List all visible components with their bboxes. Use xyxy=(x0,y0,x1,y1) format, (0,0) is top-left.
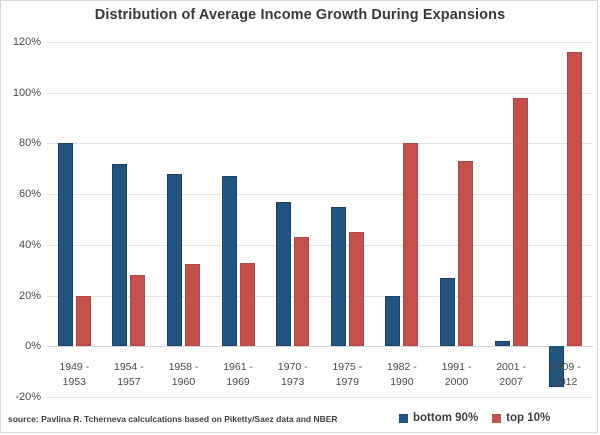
x-axis-tick-label: 1958 -1960 xyxy=(156,360,211,390)
bar-group xyxy=(47,42,102,397)
legend-swatch-icon xyxy=(399,414,408,423)
x-axis-tick-label: 2009 -2012 xyxy=(538,360,593,390)
legend-item[interactable]: top 10% xyxy=(492,412,550,424)
bar-group xyxy=(429,42,484,397)
x-axis-tick-label-line: 2012 xyxy=(538,375,593,390)
chart-container: Distribution of Average Income Growth Du… xyxy=(0,0,598,433)
y-axis-tick-label: 40% xyxy=(0,239,41,251)
x-axis-tick-label: 1961 -1969 xyxy=(211,360,266,390)
chart-title: Distribution of Average Income Growth Du… xyxy=(1,7,599,23)
legend-label: bottom 90% xyxy=(413,412,478,424)
x-axis-tick-label-line: 1970 - xyxy=(265,360,320,375)
x-axis-tick-label-line: 1961 - xyxy=(211,360,266,375)
bar-top-10 xyxy=(294,237,309,346)
bar-top-10 xyxy=(349,232,364,346)
x-axis-tick-label-line: 1990 xyxy=(375,375,430,390)
bar-bottom-90 xyxy=(112,164,127,347)
x-axis-tick-label: 1954 -1957 xyxy=(102,360,157,390)
x-axis-tick-label: 2001 -2007 xyxy=(484,360,539,390)
bar-group xyxy=(538,42,593,397)
x-axis-tick-label-line: 1991 - xyxy=(429,360,484,375)
legend-swatch-icon xyxy=(492,414,501,423)
bar-top-10 xyxy=(240,263,255,347)
x-axis-tick-label: 1982 -1990 xyxy=(375,360,430,390)
x-axis-tick-label-line: 1973 xyxy=(265,375,320,390)
x-axis-tick-label-line: 1954 - xyxy=(102,360,157,375)
x-axis-tick-label-line: 2000 xyxy=(429,375,484,390)
bar-group xyxy=(375,42,430,397)
bar-top-10 xyxy=(458,161,473,346)
bar-bottom-90 xyxy=(331,207,346,346)
x-axis-tick-label-line: 1982 - xyxy=(375,360,430,375)
y-axis-tick-label: 120% xyxy=(0,36,41,48)
bar-bottom-90 xyxy=(440,278,455,346)
bar-bottom-90 xyxy=(276,202,291,347)
x-axis-tick-label-line: 1975 - xyxy=(320,360,375,375)
x-axis-tick-label: 1949 -1953 xyxy=(47,360,102,390)
bar-bottom-90 xyxy=(222,176,237,346)
x-axis-tick-label-line: 1960 xyxy=(156,375,211,390)
bar-top-10 xyxy=(185,264,200,346)
x-axis-tick-label-line: 1969 xyxy=(211,375,266,390)
legend-item[interactable]: bottom 90% xyxy=(399,412,478,424)
bar-bottom-90 xyxy=(58,143,73,346)
bar-top-10 xyxy=(403,143,418,346)
y-axis-tick-label: -20% xyxy=(0,391,41,403)
bar-bottom-90 xyxy=(385,296,400,347)
y-axis-tick-label: 0% xyxy=(0,340,41,352)
x-axis-tick-label-line: 2009 - xyxy=(538,360,593,375)
plot-area xyxy=(47,42,593,397)
bar-group xyxy=(102,42,157,397)
bar-group xyxy=(265,42,320,397)
bar-top-10 xyxy=(567,52,582,346)
bar-top-10 xyxy=(513,98,528,347)
x-axis-tick-label-line: 1949 - xyxy=(47,360,102,375)
chart-legend: bottom 90%top 10% xyxy=(399,412,550,424)
gridline xyxy=(47,397,593,398)
x-axis-tick-label: 1975 -1979 xyxy=(320,360,375,390)
x-axis-tick-label-line: 1979 xyxy=(320,375,375,390)
x-axis-tick-label-line: 2007 xyxy=(484,375,539,390)
bar-group xyxy=(484,42,539,397)
bar-top-10 xyxy=(76,296,91,347)
y-axis-tick-label: 80% xyxy=(0,137,41,149)
bar-bottom-90 xyxy=(167,174,182,346)
y-axis-tick-label: 100% xyxy=(0,87,41,99)
y-axis-tick-label: 20% xyxy=(0,290,41,302)
legend-label: top 10% xyxy=(506,412,550,424)
x-axis-tick-label-line: 1953 xyxy=(47,375,102,390)
source-note: source: Pavlina R. Tcherneva calculcatio… xyxy=(8,414,338,424)
x-axis-tick-label: 1970 -1973 xyxy=(265,360,320,390)
bar-top-10 xyxy=(130,275,145,346)
y-axis-tick-label: 60% xyxy=(0,188,41,200)
bar-bottom-90 xyxy=(495,341,510,346)
x-axis-tick-label: 1991 -2000 xyxy=(429,360,484,390)
x-axis-tick-label-line: 1957 xyxy=(102,375,157,390)
x-axis-tick-label-line: 1958 - xyxy=(156,360,211,375)
bar-group xyxy=(156,42,211,397)
bar-group xyxy=(320,42,375,397)
x-axis-tick-label-line: 2001 - xyxy=(484,360,539,375)
bar-group xyxy=(211,42,266,397)
